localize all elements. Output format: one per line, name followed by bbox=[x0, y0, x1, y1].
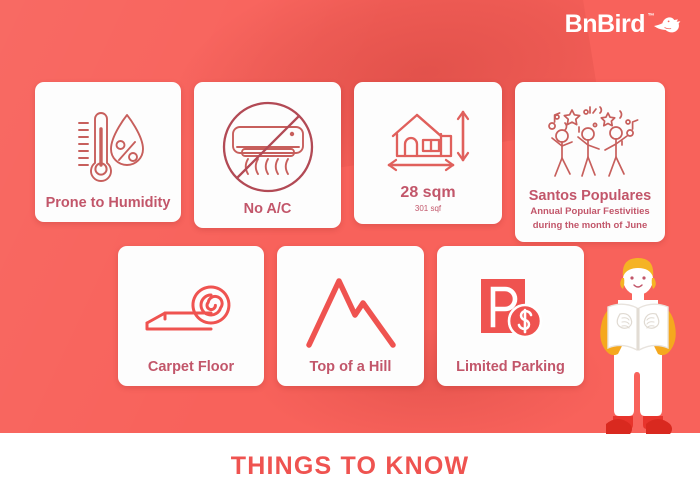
brand-name: BnBird ™ bbox=[565, 12, 645, 37]
trademark-symbol: ™ bbox=[648, 13, 655, 20]
card-icon-slot bbox=[473, 260, 549, 359]
rolled-carpet-icon bbox=[141, 279, 241, 341]
card-sublabel-line2: during the month of June bbox=[533, 220, 648, 232]
card-sublabel: 301 sqf bbox=[415, 204, 441, 214]
brand-logo[interactable]: BnBird ™ bbox=[565, 12, 686, 37]
card-no-ac[interactable]: No A/C bbox=[194, 82, 341, 228]
card-label: Limited Parking bbox=[443, 359, 578, 376]
card-limited-parking[interactable]: Limited Parking bbox=[437, 246, 584, 386]
infographic-canvas: BnBird ™ bbox=[0, 0, 700, 500]
card-icon-slot bbox=[532, 96, 648, 188]
bird-icon bbox=[652, 15, 686, 35]
bottom-banner: THINGS TO KNOW bbox=[0, 433, 700, 500]
card-prone-to-humidity[interactable]: Prone to Humidity bbox=[35, 82, 181, 222]
card-icon-slot bbox=[379, 96, 477, 184]
card-icon-slot bbox=[65, 96, 151, 195]
card-size[interactable]: 28 sqm 301 sqf bbox=[354, 82, 502, 224]
card-label: Santos Populares bbox=[521, 188, 659, 205]
card-label: Top of a Hill bbox=[283, 359, 418, 376]
card-label: No A/C bbox=[200, 201, 335, 218]
dancing-people-confetti-icon bbox=[532, 100, 648, 184]
house-dimensions-icon bbox=[379, 102, 477, 178]
no-air-conditioner-icon bbox=[215, 99, 321, 199]
brand-name-text: BnBird bbox=[565, 10, 645, 38]
card-carpet-floor[interactable]: Carpet Floor bbox=[118, 246, 264, 386]
thermometer-water-drop-percent-icon bbox=[65, 109, 151, 183]
parking-sign-dollar-icon bbox=[473, 275, 549, 345]
card-icon-slot bbox=[215, 96, 321, 201]
card-label: Carpet Floor bbox=[124, 359, 258, 376]
card-label: Prone to Humidity bbox=[41, 195, 175, 212]
card-label: 28 sqm bbox=[360, 184, 496, 202]
person-reading-book-illustration bbox=[588, 252, 688, 434]
banner-title: THINGS TO KNOW bbox=[231, 452, 470, 481]
card-sublabel-line1: Annual Popular Festivities bbox=[530, 206, 649, 218]
card-icon-slot bbox=[303, 260, 399, 359]
card-santos-populares[interactable]: Santos Populares Annual Popular Festivit… bbox=[515, 82, 665, 242]
mountain-peak-icon bbox=[303, 271, 399, 349]
card-top-of-a-hill[interactable]: Top of a Hill bbox=[277, 246, 424, 386]
card-icon-slot bbox=[141, 260, 241, 359]
